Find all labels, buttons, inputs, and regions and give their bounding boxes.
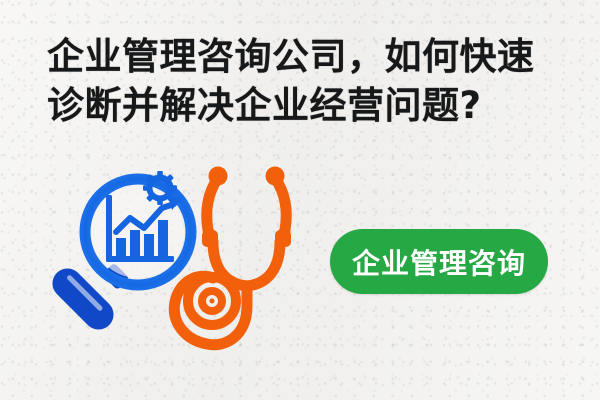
illustration-group [50,160,330,360]
tube-collar-left-icon [202,230,218,247]
tube-collar-right-icon [275,230,291,247]
headline-line-2: 诊断并解决企业经营问题? [47,81,567,130]
stethoscope-icon [155,160,345,360]
poster-canvas: 企业管理咨询公司，如何快速 诊断并解决企业经营问题? [0,0,600,400]
earpiece-right-icon [266,167,285,186]
cta-button-label: 企业管理咨询 [352,242,526,282]
earpiece-left-icon [209,167,228,186]
chest-piece-icon [188,277,236,325]
page-title: 企业管理咨询公司，如何快速 诊断并解决企业经营问题? [47,32,567,130]
magnifier-handle-icon [50,262,129,336]
headline-line-1: 企业管理咨询公司，如何快速 [47,32,567,81]
cta-button[interactable]: 企业管理咨询 [330,229,548,294]
